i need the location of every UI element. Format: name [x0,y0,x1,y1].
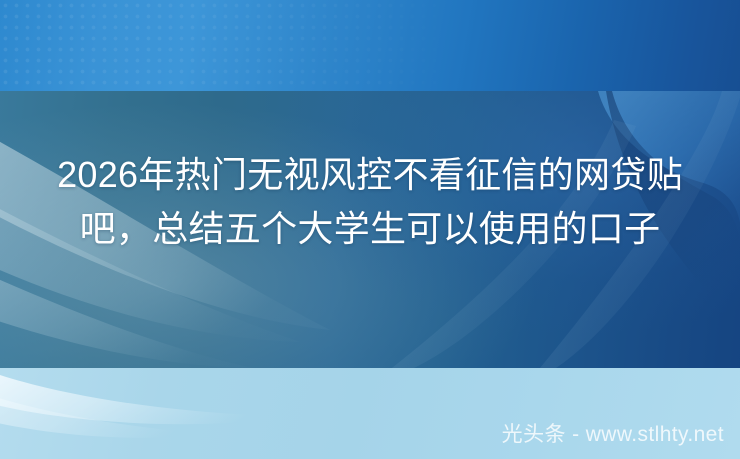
poster-canvas: 2026年热门无视风控不看征信的网贷贴吧，总结五个大学生可以使用的口子 光头条 … [0,0,740,459]
site-watermark: 光头条 - www.stlhty.net [502,424,724,445]
page-title: 2026年热门无视风控不看征信的网贷贴吧，总结五个大学生可以使用的口子 [28,148,712,255]
top-band-dot-texture [0,0,459,91]
top-bright-blue-band [0,0,740,91]
title-block: 2026年热门无视风控不看征信的网贷贴吧，总结五个大学生可以使用的口子 [0,148,740,255]
